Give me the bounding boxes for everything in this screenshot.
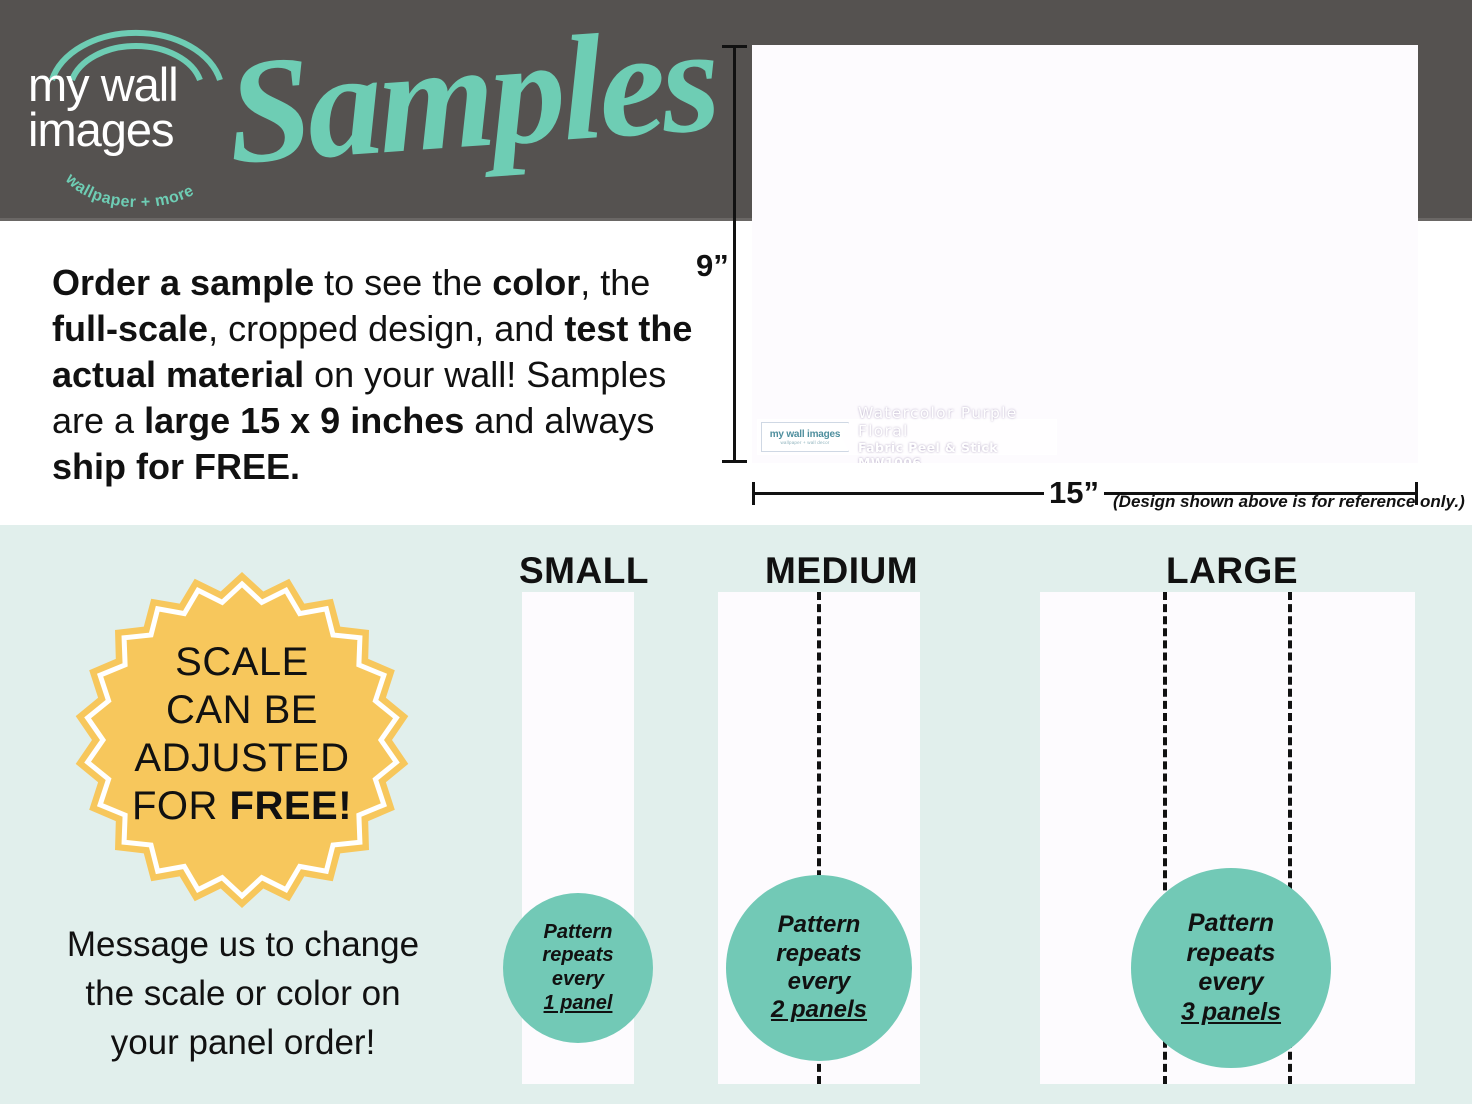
width-dim-cap-left xyxy=(752,482,755,505)
badge-line-1: Pattern xyxy=(771,911,867,939)
material-and-sku: Fabric Peel & Stick MW1006 xyxy=(858,440,1056,463)
badge-line-4: 2 panels xyxy=(771,996,867,1024)
intro-segment-4: full-scale xyxy=(52,308,208,349)
hero-sample-label: my wall images wallpaper + wall decor Wa… xyxy=(757,419,1057,455)
logo-wordmark: my wall images xyxy=(28,62,243,152)
page-title-samples: Samples xyxy=(221,0,713,213)
burst-line-4: FOR FREE! xyxy=(72,782,412,830)
pattern-repeat-badge-medium: Patternrepeatsevery2 panels xyxy=(726,875,912,1061)
badge-repeat-count: 1 panel xyxy=(544,992,613,1014)
pattern-repeat-badge-large: Patternrepeatsevery3 panels xyxy=(1131,868,1331,1068)
intro-segment-10: ship for FREE. xyxy=(52,446,300,487)
intro-segment-3: , the xyxy=(580,262,650,303)
intro-segment-0: Order a sample xyxy=(52,262,314,303)
height-dim-line xyxy=(733,45,736,463)
badge-line-2: repeats xyxy=(542,944,613,968)
svg-text:wallpaper + more: wallpaper + more xyxy=(61,170,196,211)
design-name: Watercolor Purple Floral xyxy=(858,404,1056,440)
burst-line-4-free: FREE! xyxy=(230,784,353,828)
scale-heading-small: SMALL xyxy=(519,550,649,592)
intro-segment-9: and always xyxy=(464,400,654,441)
burst-text-block: SCALE CAN BE ADJUSTED FOR FREE! xyxy=(72,638,412,830)
badge-line-3: every xyxy=(542,968,613,992)
hero-sample-image: my wall images wallpaper + wall decor Wa… xyxy=(752,45,1418,463)
hero-badge-title: my wall images xyxy=(770,429,841,440)
intro-segment-2: color xyxy=(492,262,580,303)
message-line-2: the scale or color on xyxy=(28,969,458,1018)
logo-line-2: images xyxy=(28,107,243,152)
badge-line-4: 3 panels xyxy=(1181,998,1281,1028)
badge-line-1: Pattern xyxy=(542,921,613,945)
burst-line-3: ADJUSTED xyxy=(72,734,412,782)
badge-repeat-count: 3 panels xyxy=(1181,998,1281,1026)
hero-badge-subtitle: wallpaper + wall decor xyxy=(780,440,829,445)
height-dim-label: 9” xyxy=(696,248,729,284)
scale-heading-large: LARGE xyxy=(1166,550,1298,592)
burst-line-1: SCALE xyxy=(72,638,412,686)
reference-disclaimer: (Design shown above is for reference onl… xyxy=(1113,492,1465,512)
scale-free-burst-badge: SCALE CAN BE ADJUSTED FOR FREE! xyxy=(72,570,412,910)
badge-line-3: every xyxy=(771,968,867,996)
scale-heading-medium: MEDIUM xyxy=(765,550,918,592)
height-dim-cap-bottom xyxy=(722,460,747,463)
logo-tagline-text: wallpaper + more xyxy=(61,170,196,211)
badge-repeat-count: 2 panels xyxy=(771,996,867,1023)
badge-line-1: Pattern xyxy=(1181,909,1281,939)
badge-line-2: repeats xyxy=(1181,939,1281,969)
logo-tagline: wallpaper + more xyxy=(56,162,221,206)
message-us-copy: Message us to change the scale or color … xyxy=(28,920,458,1067)
message-line-1: Message us to change xyxy=(28,920,458,969)
burst-line-2: CAN BE xyxy=(72,686,412,734)
logo-line-1: my wall xyxy=(28,62,243,107)
badge-line-4: 1 panel xyxy=(542,992,613,1016)
watercolor-floral-pattern xyxy=(752,45,1418,463)
intro-segment-5: , cropped design, and xyxy=(208,308,564,349)
hero-label-text: Watercolor Purple Floral Fabric Peel & S… xyxy=(858,404,1056,463)
hero-logo-badge: my wall images wallpaper + wall decor xyxy=(761,422,849,452)
burst-line-4-pre: FOR xyxy=(132,784,230,828)
pattern-repeat-badge-small: Patternrepeatsevery1 panel xyxy=(503,893,653,1043)
badge-line-2: repeats xyxy=(771,940,867,968)
message-line-3: your panel order! xyxy=(28,1018,458,1067)
intro-paragraph: Order a sample to see the color, the ful… xyxy=(52,260,702,490)
intro-segment-1: to see the xyxy=(314,262,492,303)
badge-line-3: every xyxy=(1181,968,1281,998)
width-dim-label: 15” xyxy=(1044,475,1104,511)
brand-logo: my wall images wallpaper + more xyxy=(28,22,243,202)
intro-segment-8: large 15 x 9 inches xyxy=(144,400,464,441)
